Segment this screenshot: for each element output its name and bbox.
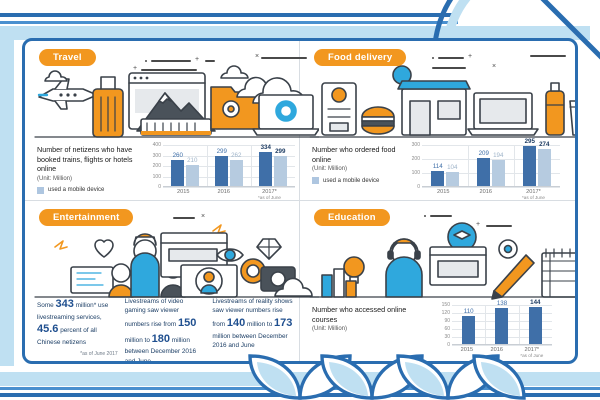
- chart-bar-group: 138: [495, 305, 508, 345]
- chart-y-tick: 150: [442, 302, 450, 308]
- chart-y-tick: 0: [417, 184, 420, 190]
- food-text-block: Number who ordered food online (Unit: Mi…: [312, 145, 398, 184]
- education-title: Number who accessed online courses: [312, 305, 418, 324]
- chart-bar: 114: [431, 171, 444, 187]
- chart-x-tick: 2015: [461, 347, 473, 358]
- ent3-mid: million to: [245, 321, 274, 328]
- ent1-pre: Some: [37, 302, 55, 309]
- food-unit: (Unit: Million): [312, 166, 398, 172]
- chart-bar-value: 110: [464, 308, 474, 315]
- browser-window-icon: [430, 247, 486, 285]
- section-travel: Travel + + ×: [25, 41, 300, 201]
- chart-y-tick: 90: [444, 318, 450, 324]
- entertainment-col-2: Livestreams of video gaming saw viewer n…: [125, 297, 206, 364]
- chart-bar: 299: [215, 156, 228, 187]
- frame-bottom-line-mid: [0, 387, 600, 390]
- chart-bar-value: 274: [539, 141, 549, 148]
- chart-bar: 209: [477, 158, 490, 187]
- chart-x-note: *as of June: [522, 195, 545, 200]
- chart-x-tick: 2017**as of June: [258, 189, 281, 200]
- ent2-mid: million to: [125, 337, 152, 344]
- section-entertainment: Entertainment ×: [25, 201, 300, 361]
- chart-bar-value: 295: [525, 138, 535, 145]
- chart-gridline: [163, 187, 295, 188]
- chart-x-labels: 201520162017**as of June: [422, 189, 560, 200]
- chart-axis: [452, 344, 552, 345]
- chart-x-labels: 201520162017**as of June: [163, 189, 295, 200]
- food-title: Number who ordered food online: [312, 145, 398, 164]
- chart-bar-group: 110: [462, 305, 475, 345]
- chart-x-tick: 2015: [177, 189, 189, 200]
- chef-icon: [322, 83, 356, 135]
- dash-decoration-education: +: [424, 211, 564, 233]
- chart-bar: 295: [523, 146, 536, 187]
- badge-entertainment[interactable]: Entertainment: [39, 209, 133, 226]
- chart-bar-value: 334: [261, 144, 271, 151]
- chart-bar: 262: [230, 160, 243, 188]
- chart-bar-group: 209194: [477, 145, 505, 187]
- chart-bar: 110: [462, 316, 475, 345]
- chart-x-tick: 2017**as of June: [520, 347, 543, 358]
- chart-bar-group: 299262: [215, 145, 243, 187]
- chart-y-tick: 100: [153, 174, 161, 180]
- chart-food-delivery: 0100200300114104209194295274201520162017…: [422, 145, 560, 187]
- headset-person-icon: [386, 239, 422, 297]
- cup-icon: [570, 101, 578, 135]
- chart-x-tick: 2016: [218, 189, 230, 200]
- chart-bar-group: 114104: [431, 145, 459, 187]
- ent2-big2: 180: [152, 333, 170, 345]
- chart-bar-value: 262: [231, 152, 241, 159]
- chart-y-tick: 300: [153, 153, 161, 159]
- chart-bar-value: 114: [433, 163, 443, 170]
- food-legend-label: used a mobile device: [323, 178, 379, 184]
- chart-bar-value: 299: [275, 148, 285, 155]
- badge-education[interactable]: Education: [314, 209, 390, 226]
- chart-education: 0306090120150110138144201520162017**as o…: [452, 305, 552, 345]
- video-chat-icon: [181, 265, 237, 297]
- badge-travel[interactable]: Travel: [39, 49, 96, 66]
- ent1-mid1: million*: [74, 302, 96, 309]
- quadrant-grid: Travel + + ×: [25, 41, 575, 361]
- chart-bar-group: 295274: [523, 145, 551, 187]
- travel-title: Number of netizens who have booked train…: [37, 145, 141, 174]
- chart-bar: 104: [446, 172, 459, 187]
- ent1-note: *as of June 2017: [37, 351, 118, 358]
- ent3-big2: 173: [274, 317, 292, 329]
- chart-bar-value: 104: [447, 164, 457, 171]
- chart-y-tick: 100: [412, 170, 420, 176]
- section-education: Education +: [300, 201, 575, 361]
- chart-bar: 274: [538, 149, 551, 187]
- infographic-card: Travel + + ×: [22, 38, 578, 364]
- dash-decoration-travel: + + ×: [143, 55, 293, 79]
- chart-bar: 299: [274, 156, 287, 187]
- gear-icon: [499, 240, 517, 258]
- frame-left-band-light: [0, 26, 14, 366]
- chart-bar-group: 144: [529, 305, 542, 345]
- entertainment-col-1: Some 343 million* use livestreaming serv…: [37, 297, 118, 364]
- chart-bar-value: 299: [217, 148, 227, 155]
- dash-decoration-entertainment: ×: [173, 213, 293, 233]
- section-food-delivery: Food delivery + ×: [300, 41, 575, 201]
- chart-bar: 260: [171, 160, 184, 187]
- legend-swatch-icon: [312, 177, 319, 184]
- legend-swatch-icon: [37, 187, 44, 194]
- frame-bottom-band-light: [0, 372, 600, 386]
- chart-axis: [422, 186, 560, 187]
- education-unit: (Unit: Million): [312, 326, 418, 332]
- chart-y-tick: 120: [442, 310, 450, 316]
- chart-x-tick: 2016: [480, 189, 492, 200]
- dash-decoration-food: + ×: [432, 53, 572, 77]
- chart-axis: [163, 186, 295, 187]
- chart-x-labels: 201520162017**as of June: [452, 347, 552, 358]
- chart-bar: 138: [495, 308, 508, 345]
- entertainment-col-3: Livestreams of reality shows saw viewer …: [212, 297, 293, 364]
- chart-bar-group: 260210: [171, 145, 199, 187]
- chart-bar-value: 210: [187, 157, 197, 164]
- chart-y-tick: 0: [158, 184, 161, 190]
- chart-bars: 114104209194295274: [422, 145, 560, 187]
- chart-bar: 334: [259, 152, 272, 187]
- badge-food-delivery[interactable]: Food delivery: [314, 49, 406, 66]
- chart-y-tick: 200: [412, 156, 420, 162]
- chart-y-tick: 200: [153, 163, 161, 169]
- diamond-icon: [257, 239, 281, 259]
- frame-bottom-line-dark: [0, 393, 600, 397]
- laptop-icon: [468, 93, 538, 135]
- heart-icon: [95, 240, 113, 257]
- suitcase-icon: [93, 77, 123, 137]
- chart-bar: 210: [186, 165, 199, 187]
- chart-y-tick: 30: [444, 334, 450, 340]
- travel-unit: (Unit: Million): [37, 176, 141, 182]
- chart-bar-value: 144: [530, 299, 540, 306]
- ent1-big2: 45.6: [37, 323, 58, 335]
- notebook-icon: [542, 249, 578, 297]
- chart-y-tick: 300: [412, 142, 420, 148]
- airplane-icon: [39, 79, 97, 109]
- chart-x-note: *as of June: [258, 195, 281, 200]
- chart-bars: 110138144: [452, 305, 552, 345]
- chart-x-note: *as of June: [520, 353, 543, 358]
- ent1-big1: 343: [55, 298, 73, 310]
- ent3-post: million between December 2016 and June: [212, 333, 287, 349]
- chart-y-tick: 60: [444, 326, 450, 332]
- chart-bar: 194: [492, 160, 505, 187]
- drink-bottle-icon: [546, 83, 564, 135]
- food-legend: used a mobile device: [312, 177, 398, 184]
- storefront-icon: [398, 81, 470, 135]
- chart-bar: 144: [529, 307, 542, 345]
- travel-legend-label: used a mobile device: [48, 187, 104, 193]
- chart-x-tick: 2016: [490, 347, 502, 358]
- laptop-icon: [71, 267, 113, 293]
- ent3-big1: 140: [227, 317, 245, 329]
- chart-gridline: [452, 345, 552, 346]
- chart-bar-value: 138: [497, 300, 507, 307]
- chart-x-tick: 2017**as of June: [522, 189, 545, 200]
- train-icon: [141, 119, 211, 135]
- chart-bar-group: 334299: [259, 145, 287, 187]
- lightbulb-icon: [344, 257, 364, 283]
- entertainment-columns: Some 343 million* use livestreaming serv…: [37, 297, 293, 364]
- chart-gridline: [422, 187, 560, 188]
- ent2-big1: 150: [178, 317, 196, 329]
- education-text-block: Number who accessed online courses (Unit…: [312, 305, 418, 332]
- chart-bar-value: 260: [173, 152, 183, 159]
- chart-y-tick: 400: [153, 142, 161, 148]
- pencil-icon: [492, 255, 534, 299]
- chart-y-tick: 0: [447, 342, 450, 348]
- chart-travel: 0100200300400260210299262334299201520162…: [163, 145, 295, 187]
- chart-x-tick: 2015: [437, 189, 449, 200]
- ent2-pre: Livestreams of video gaming saw viewer n…: [125, 298, 184, 328]
- travel-text-block: Number of netizens who have booked train…: [37, 145, 141, 194]
- chart-bar-value: 209: [479, 150, 489, 157]
- burger-icon: [362, 107, 394, 134]
- chart-bar-value: 194: [493, 152, 503, 159]
- eye-icon: [217, 249, 243, 261]
- travel-legend: used a mobile device: [37, 187, 141, 194]
- chart-bars: 260210299262334299: [163, 145, 295, 187]
